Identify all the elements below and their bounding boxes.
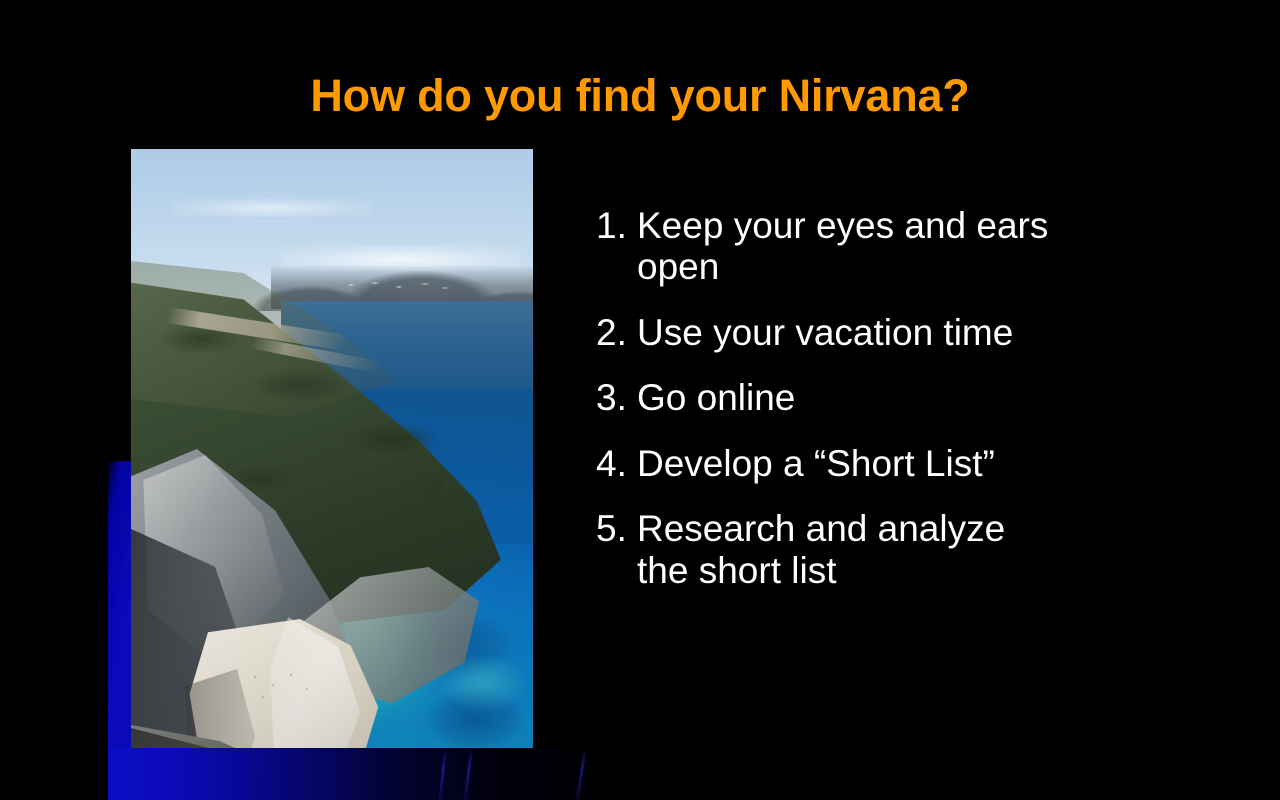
beach-photo [131,149,533,748]
list-item-text: Research and analyze the short list [637,508,1057,591]
photo-tone-overlay [131,149,533,748]
presentation-slide: How do you find your Nirvana? [0,0,1280,800]
list-item: 2. Use your vacation time [596,312,1096,353]
list-item-text: Use your vacation time [637,312,1057,353]
decorative-streak [576,748,587,800]
list-item-text: Develop a “Short List” [637,443,1057,484]
list-item: 5. Research and analyze the short list [596,508,1096,591]
slide-title: How do you find your Nirvana? [0,70,1280,122]
list-item-number: 1. [596,205,637,246]
list-item-number: 5. [596,508,637,549]
list-item-text: Keep your eyes and ears open [637,205,1057,288]
list-item: 1. Keep your eyes and ears open [596,205,1096,288]
list-item-number: 2. [596,312,637,353]
list-item: 4. Develop a “Short List” [596,443,1096,484]
list-item-text: Go online [637,377,1057,418]
numbered-list: 1. Keep your eyes and ears open 2. Use y… [596,205,1096,615]
list-item: 3. Go online [596,377,1096,418]
decorative-blue-band [108,748,668,800]
list-item-number: 4. [596,443,637,484]
decorative-streak [439,748,447,800]
decorative-streak [464,748,473,800]
list-item-number: 3. [596,377,637,418]
